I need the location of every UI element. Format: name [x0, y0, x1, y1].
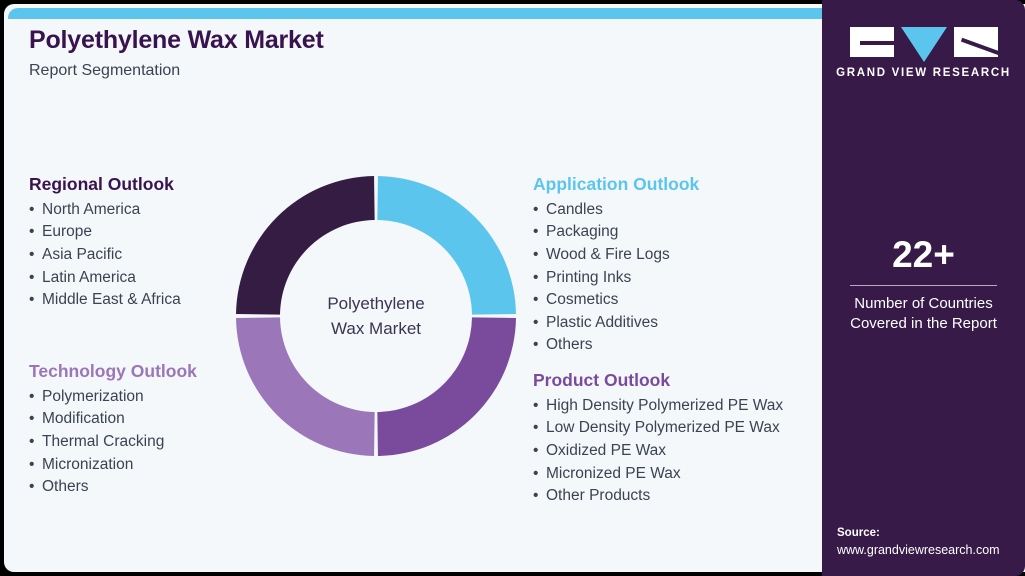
list-item: Asia Pacific	[29, 244, 181, 267]
list-item: Low Density Polymerized PE Wax	[533, 417, 783, 440]
source-block: Source: www.grandviewresearch.com	[837, 525, 1025, 559]
grand-view-research-logo: GRAND VIEW RESEARCH	[822, 27, 1025, 79]
list-item: Thermal Cracking	[29, 431, 197, 454]
list-item: High Density Polymerized PE Wax	[533, 395, 783, 418]
list-item: Packaging	[533, 221, 699, 244]
technology-outlook-title: Technology Outlook	[29, 361, 197, 383]
list-item: Modification	[29, 408, 197, 431]
list-item: Latin America	[29, 267, 181, 290]
countries-stat: 22+ Number of Countries Covered in the R…	[822, 236, 1025, 334]
list-item: Plastic Additives	[533, 312, 699, 335]
application-outlook-list: Candles Packaging Wood & Fire Logs Print…	[533, 199, 699, 357]
segmentation-donut-chart: Polyethylene Wax Market	[236, 172, 516, 460]
list-item: Candles	[533, 199, 699, 222]
list-item: Middle East & Africa	[29, 289, 181, 312]
regional-outlook-block: Regional Outlook North America Europe As…	[29, 174, 181, 312]
logo-v-triangle-icon	[901, 27, 947, 62]
list-item: Printing Inks	[533, 267, 699, 290]
list-item: Others	[533, 334, 699, 357]
product-outlook-list: High Density Polymerized PE Wax Low Dens…	[533, 395, 783, 508]
source-label: Source:	[837, 525, 1025, 542]
stat-label-line-2: Covered in the Report	[822, 314, 1025, 334]
regional-outlook-title: Regional Outlook	[29, 174, 181, 196]
stat-value: 22+	[822, 236, 1025, 275]
list-item: North America	[29, 199, 181, 222]
logo-g-icon	[850, 27, 894, 57]
technology-outlook-list: Polymerization Modification Thermal Crac…	[29, 386, 197, 499]
infographic-root: Polyethylene Wax Market Report Segmentat…	[0, 0, 1025, 576]
logo-wordmark: GRAND VIEW RESEARCH	[822, 67, 1025, 79]
header: Polyethylene Wax Market Report Segmentat…	[29, 26, 629, 80]
logo-marks	[822, 27, 1025, 59]
product-outlook-block: Product Outlook High Density Polymerized…	[533, 370, 783, 508]
page-title: Polyethylene Wax Market	[29, 26, 629, 55]
application-outlook-title: Application Outlook	[533, 174, 699, 196]
page-subtitle: Report Segmentation	[29, 61, 629, 80]
list-item: Micronization	[29, 454, 197, 477]
list-item: Cosmetics	[533, 289, 699, 312]
list-item: Wood & Fire Logs	[533, 244, 699, 267]
list-item: Europe	[29, 221, 181, 244]
product-outlook-title: Product Outlook	[533, 370, 783, 392]
donut-svg	[236, 172, 516, 460]
stat-label-line-1: Number of Countries	[822, 294, 1025, 314]
donut-segment-technology	[236, 317, 375, 456]
technology-outlook-block: Technology Outlook Polymerization Modifi…	[29, 361, 197, 499]
application-outlook-block: Application Outlook Candles Packaging Wo…	[533, 174, 699, 357]
side-panel: GRAND VIEW RESEARCH 22+ Number of Countr…	[822, 0, 1025, 576]
stat-divider	[850, 285, 997, 286]
regional-outlook-list: North America Europe Asia Pacific Latin …	[29, 199, 181, 312]
list-item: Micronized PE Wax	[533, 463, 783, 486]
donut-segment-regional	[236, 176, 375, 315]
list-item: Other Products	[533, 485, 783, 508]
donut-segment-product	[377, 317, 516, 456]
source-url[interactable]: www.grandviewresearch.com	[837, 542, 1025, 560]
list-item: Others	[29, 476, 197, 499]
list-item: Oxidized PE Wax	[533, 440, 783, 463]
top-accent-bar	[8, 8, 826, 19]
list-item: Polymerization	[29, 386, 197, 409]
logo-r-icon	[954, 27, 998, 57]
donut-segment-application	[377, 176, 516, 315]
